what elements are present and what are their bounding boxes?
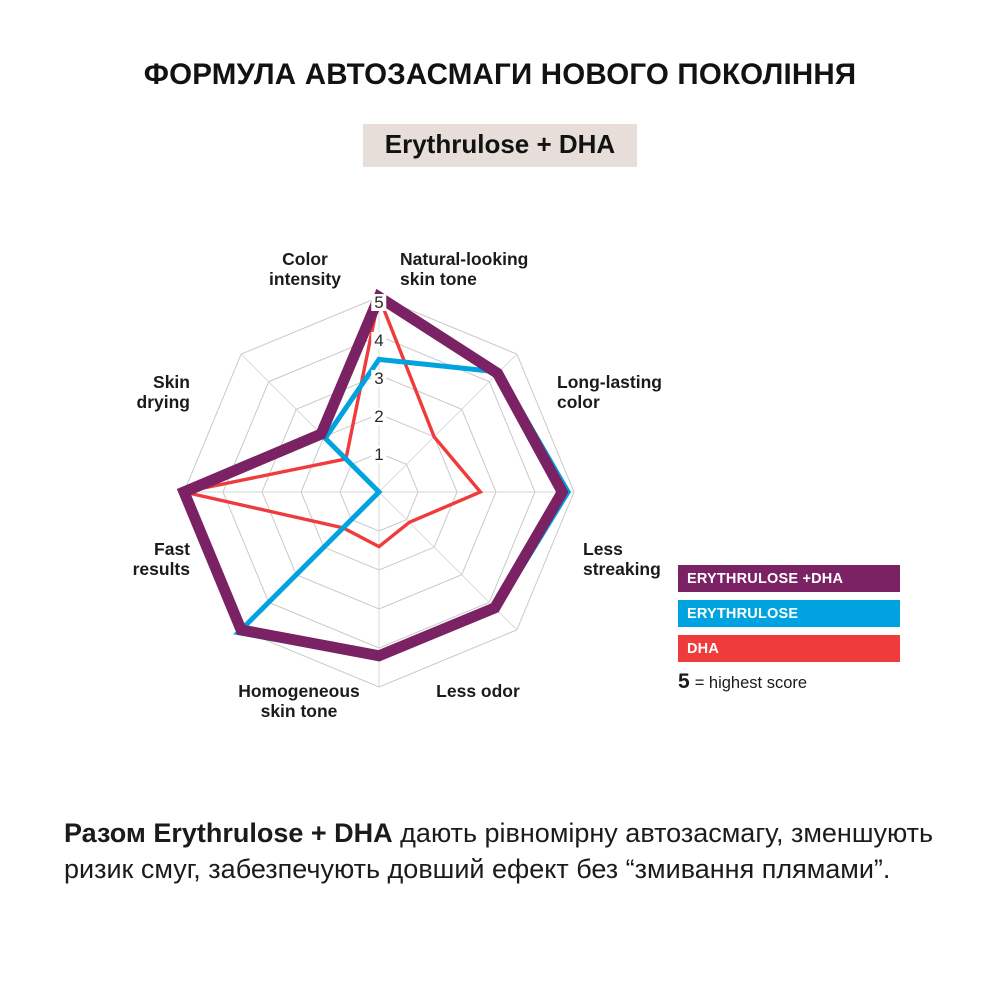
chart-legend: ERYTHRULOSE +DHA ERYTHRULOSE DHA 5 = hig… <box>678 565 900 694</box>
axis-label-less-streaking: Less streaking <box>583 540 661 579</box>
legend-score-value: 5 <box>678 670 690 694</box>
legend-score-note: 5 = highest score <box>678 670 900 694</box>
formula-badge: Erythrulose + DHA <box>363 124 637 167</box>
legend-item-erythrulose: ERYTHRULOSE <box>678 600 900 627</box>
axis-label-homogeneous-skin-tone: Homogeneous skin tone <box>238 682 360 721</box>
page-title: ФОРМУЛА АВТОЗАСМАГИ НОВОГО ПОКОЛІННЯ <box>0 58 1000 92</box>
ring-label-3: 3 <box>371 370 386 387</box>
legend-item-erythrulose-dha: ERYTHRULOSE +DHA <box>678 565 900 592</box>
axis-label-color-intensity: Color intensity <box>269 250 341 289</box>
axis-label-natural-skin-tone: Natural-looking skin tone <box>400 250 528 289</box>
legend-label-dha: DHA <box>678 641 719 657</box>
ring-label-2: 2 <box>371 408 386 425</box>
axis-label-long-lasting-color: Long-lasting color <box>557 373 662 412</box>
ring-label-4: 4 <box>371 332 386 349</box>
legend-score-text: = highest score <box>695 674 807 693</box>
footer-lead: Разом Erythrulose + DHA <box>64 818 393 848</box>
ring-label-1: 1 <box>371 446 386 463</box>
radar-series-0 <box>184 297 562 656</box>
axis-label-less-odor: Less odor <box>436 682 520 702</box>
axis-label-fast-results: Fast results <box>70 540 190 579</box>
ring-label-5: 5 <box>371 294 386 311</box>
legend-label-erythrulose-dha: ERYTHRULOSE +DHA <box>678 571 843 587</box>
axis-label-skin-drying: Skin drying <box>60 373 190 412</box>
subtitle-container: Erythrulose + DHA <box>0 124 1000 167</box>
legend-item-dha: DHA <box>678 635 900 662</box>
legend-label-erythrulose: ERYTHRULOSE <box>678 606 798 622</box>
footer-paragraph: Разом Erythrulose + DHA дають рівномірну… <box>64 815 964 887</box>
